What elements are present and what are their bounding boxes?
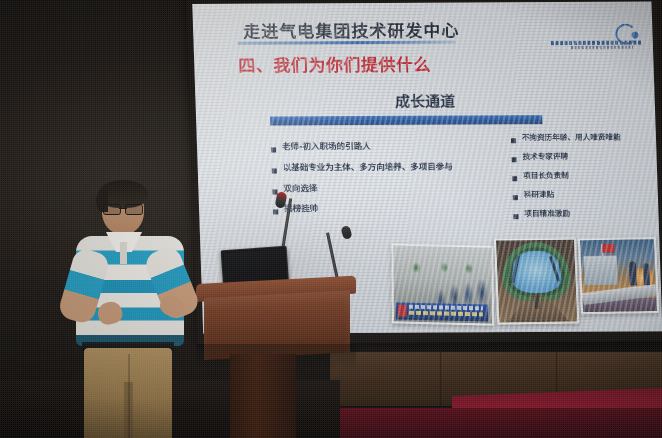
logo-text-line-1 <box>551 41 643 45</box>
square-bullet-icon <box>271 147 276 152</box>
list-item: 项目精准激励 <box>513 209 662 219</box>
list-item: 老师-初入职场的引路人 <box>271 142 481 153</box>
list-item: 揭榜挂帅 <box>273 205 483 216</box>
bullet-column-right: 不拘资历年龄、用人唯贤唯能 技术专家评聘 项目长负责制 科研津贴 <box>511 133 662 229</box>
presenter <box>62 184 202 438</box>
square-bullet-icon <box>272 168 277 173</box>
newsroom-visit-photo <box>391 243 494 325</box>
panel-seam <box>440 352 441 406</box>
bullet-text: 以基础专业为主体、多方向培养、多项目参与 <box>283 163 453 174</box>
list-item: 双向选择 <box>272 184 482 195</box>
slide-section-heading: 四、我们为你们提供什么 <box>238 51 431 77</box>
tunnel-worker <box>534 294 539 309</box>
banner-line-2 <box>409 310 483 316</box>
bullet-text: 技术专家评聘 <box>522 153 568 162</box>
list-item: 不拘资历年龄、用人唯贤唯能 <box>511 133 661 143</box>
list-item: 项目长负责制 <box>512 171 662 181</box>
lectern-column <box>230 354 296 438</box>
title-underline <box>238 41 456 45</box>
red-carpet-foreground <box>330 408 662 438</box>
eyeglasses-icon <box>103 204 143 213</box>
tunnel-boring-photo <box>494 238 579 325</box>
square-bullet-icon <box>511 138 516 143</box>
slide-title: 走进气电集团技术研发中心 <box>243 17 460 43</box>
list-item: 以基础专业为主体、多方向培养、多项目参与 <box>272 163 482 174</box>
banner-badge <box>398 305 407 317</box>
shirt-placket <box>120 242 127 264</box>
trouser-leg-gap <box>124 382 133 438</box>
slide-subtitle: 成长通道 <box>195 90 655 113</box>
site-building <box>584 255 618 284</box>
bullet-text: 不拘资历年龄、用人唯贤唯能 <box>522 134 621 143</box>
square-bullet-icon <box>512 157 517 162</box>
bullet-text: 科研津贴 <box>524 191 555 200</box>
pipeline-site-photo <box>578 237 659 314</box>
subtitle-blue-bar <box>270 115 542 125</box>
conference-room-photo: 走进气电集团技术研发中心 四、我们为你们提供什么 成长通道 老师-初入职场的引路… <box>0 0 662 438</box>
bullet-column-left: 老师-初入职场的引路人 以基础专业为主体、多方向培养、多项目参与 双向选择 揭榜… <box>271 142 484 226</box>
logo-dot-icon <box>631 32 638 39</box>
list-item: 技术专家评聘 <box>511 152 661 162</box>
bullet-text: 双向选择 <box>283 185 317 195</box>
corporate-logo <box>550 24 643 50</box>
wooden-lectern <box>196 284 356 438</box>
slide-photo-strip <box>390 237 655 324</box>
site-worker-2 <box>643 264 650 286</box>
bullet-text: 老师-初入职场的引路人 <box>282 143 371 153</box>
lens-left <box>103 204 121 215</box>
square-bullet-icon <box>513 214 518 219</box>
presenter-trousers <box>84 348 172 438</box>
logo-text-line-2 <box>571 46 633 49</box>
glasses-bridge <box>119 208 127 209</box>
photo-caption-banner <box>396 302 488 321</box>
square-bullet-icon <box>512 176 517 181</box>
bullet-text: 项目长负责制 <box>523 172 569 181</box>
bullet-text: 项目精准激励 <box>524 210 570 219</box>
list-item: 科研津贴 <box>513 190 662 200</box>
site-worker-1 <box>629 261 637 286</box>
lens-right <box>125 204 143 215</box>
square-bullet-icon <box>513 195 518 200</box>
national-flag-icon <box>602 244 614 253</box>
square-bullet-icon <box>273 210 278 215</box>
